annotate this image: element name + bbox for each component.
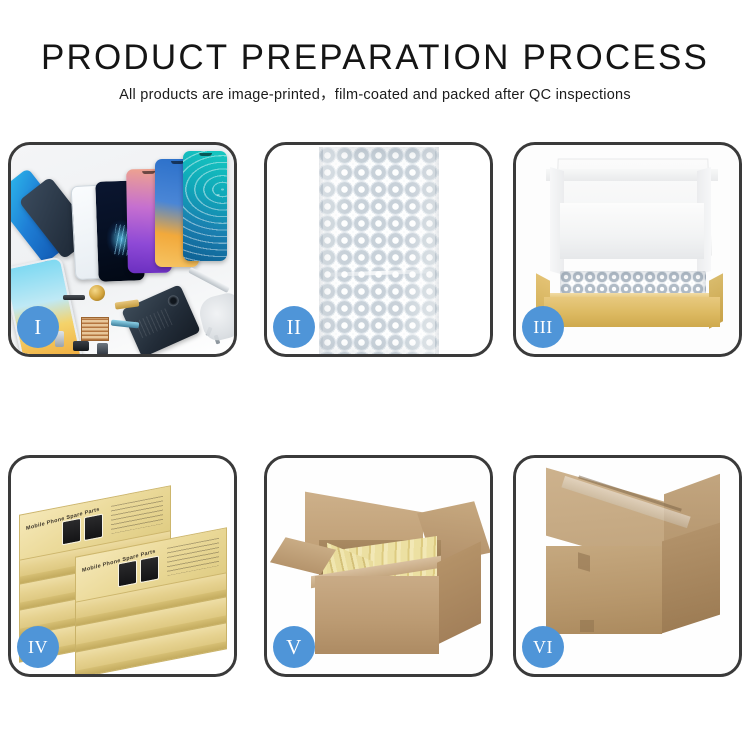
box-screen-image xyxy=(84,513,103,541)
step-badge-2: II xyxy=(273,306,315,348)
notch-icon xyxy=(142,171,155,174)
box-spec-lines xyxy=(111,496,163,534)
step-panel-4: Mobile Phone Spare Parts Mobile Phone Sp… xyxy=(8,455,237,677)
carton-tab xyxy=(580,620,594,632)
earpiece-part xyxy=(63,295,85,300)
page-subtitle: All products are image-printed，film-coat… xyxy=(0,86,750,104)
box-screen-image xyxy=(62,518,81,546)
box-screen-image xyxy=(140,555,159,583)
box-front-panel xyxy=(544,297,720,327)
notch-icon xyxy=(171,161,184,164)
box-lid-fold xyxy=(546,169,718,181)
page-header: PRODUCT PREPARATION PROCESS All products… xyxy=(0,0,750,130)
step-panel-2: II xyxy=(264,142,493,357)
step-badge-4: IV xyxy=(17,626,59,668)
step-badge-1: I xyxy=(17,306,59,348)
speaker-part xyxy=(89,285,105,301)
box-screen-image xyxy=(118,560,137,588)
phone-screen-teal xyxy=(183,151,227,261)
step-badge-3: III xyxy=(522,306,564,348)
page-title: PRODUCT PREPARATION PROCESS xyxy=(0,39,750,77)
step-panel-5: V xyxy=(264,455,493,677)
chip-part xyxy=(73,341,89,351)
box-spec-lines xyxy=(167,538,219,576)
carton-tab xyxy=(578,552,590,571)
foam-lining xyxy=(560,203,704,259)
process-steps-grid: I II III xyxy=(8,142,742,682)
carton-front-panel xyxy=(546,546,662,634)
step-panel-1: I xyxy=(8,142,237,357)
carton-front-panel xyxy=(315,576,439,654)
copper-mesh-part xyxy=(81,317,109,341)
step-badge-5: V xyxy=(273,626,315,668)
step-badge-6: VI xyxy=(522,626,564,668)
carton-side-panel xyxy=(662,523,720,634)
step-panel-6: VI xyxy=(513,455,742,677)
notch-icon xyxy=(199,153,212,156)
step-panel-3: III xyxy=(513,142,742,357)
connector-part xyxy=(97,343,108,354)
bubble-wrap-film-highlight xyxy=(323,145,435,354)
